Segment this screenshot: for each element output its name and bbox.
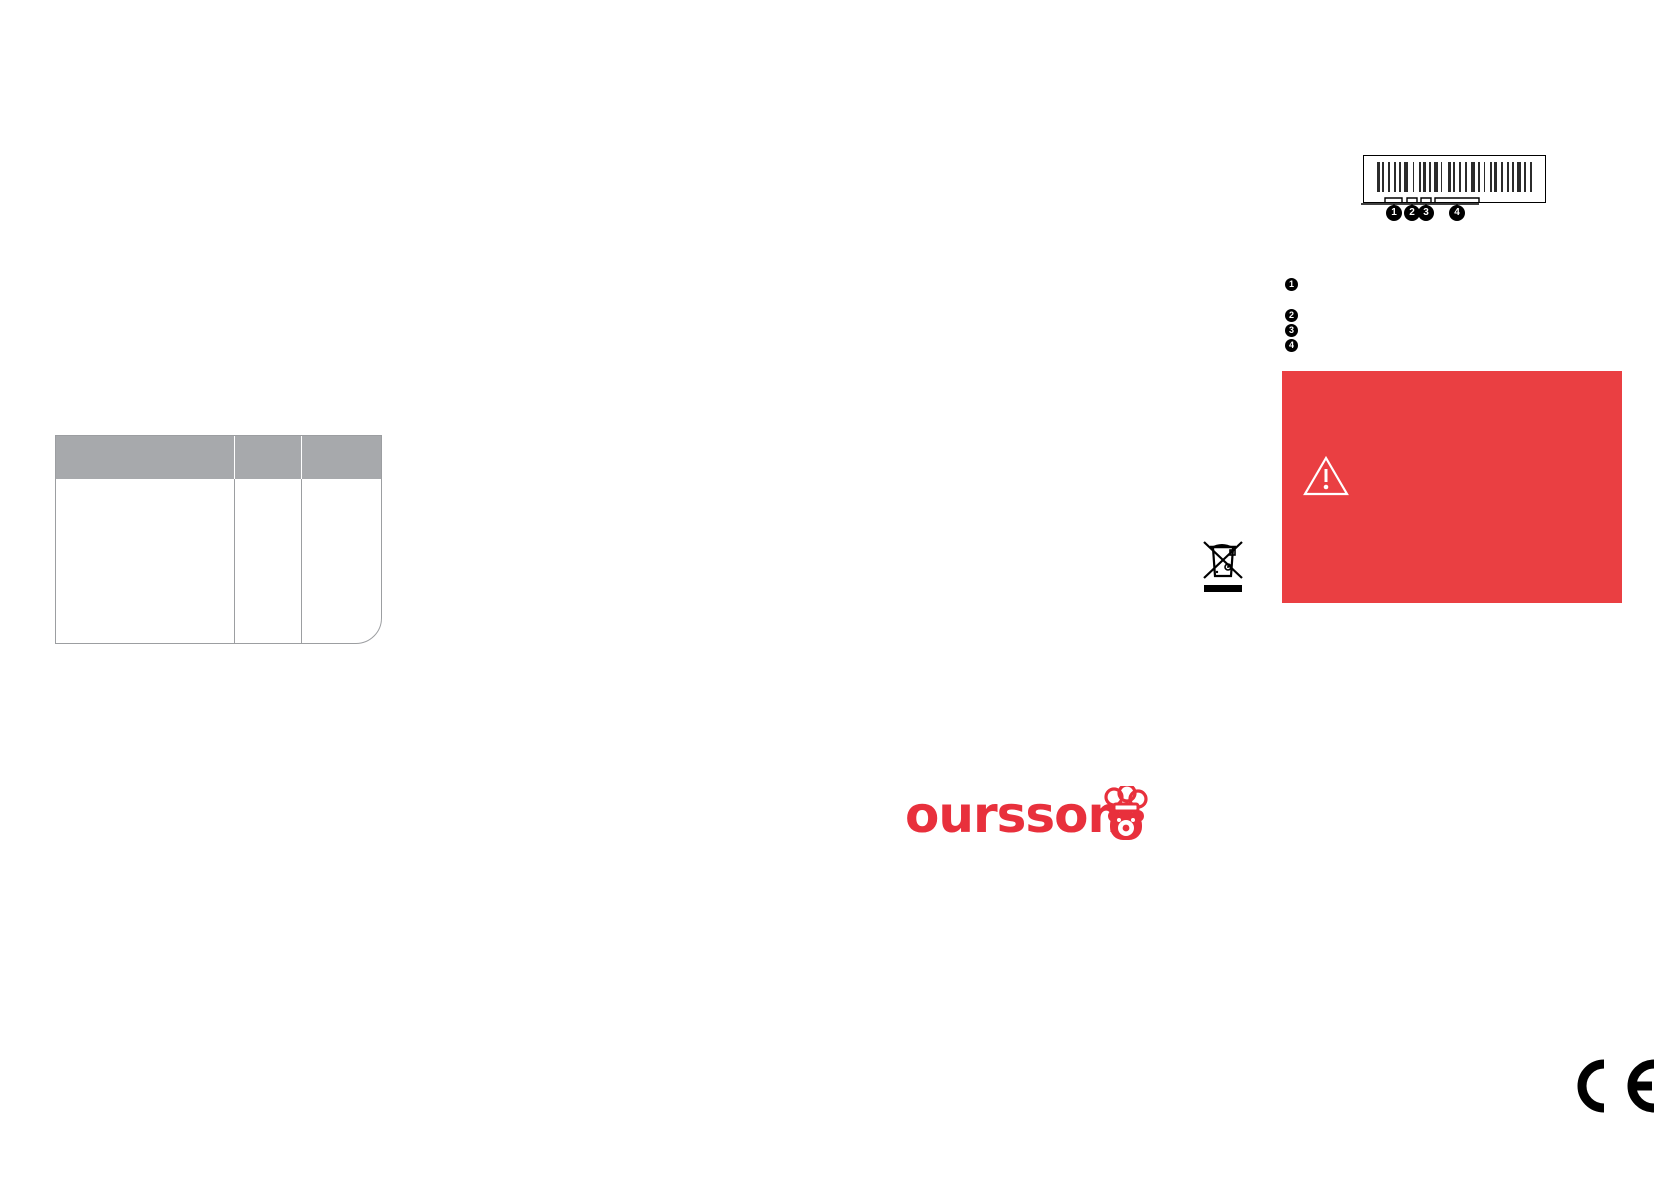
safety-warning-panel [1282, 371, 1622, 603]
barcode-bar [1530, 162, 1532, 192]
barcode-bar [1388, 162, 1390, 192]
barcode-bars [1377, 162, 1532, 192]
table-cell-value-2 [235, 479, 301, 485]
barcode-bar [1490, 162, 1492, 192]
barcode-callout-dot-3: 3 [1418, 205, 1434, 221]
barcode-bar [1501, 162, 1503, 192]
barcode-bar [1404, 162, 1408, 192]
barcode-bar [1524, 162, 1526, 192]
table-header-cell-2 [235, 436, 302, 479]
legend-number-3: 3 [1285, 324, 1298, 337]
barcode-bar [1423, 162, 1426, 192]
table-header-cell-1 [56, 436, 235, 479]
barcode-bar [1512, 162, 1515, 192]
ce-conformity-mark [1570, 1058, 1660, 1114]
barcode-bar [1507, 162, 1509, 192]
list-item: 2 [1285, 309, 1635, 322]
manual-back-page: 1 2 3 4 1 2 3 4 [0, 0, 1678, 1191]
barcode-bar [1471, 162, 1475, 192]
barcode-bar [1434, 162, 1438, 192]
table-cell-2 [235, 479, 302, 643]
table-header-label-3 [302, 436, 382, 442]
barcode-callout-dot-4: 4 [1449, 205, 1465, 221]
bear-chef-hat-icon [1101, 786, 1149, 844]
oursson-wordmark: oursson [905, 790, 1122, 840]
barcode-bar [1382, 162, 1384, 192]
barcode-bar [1517, 162, 1521, 192]
table-header-label-2 [235, 436, 301, 442]
barcode-bar [1478, 162, 1480, 192]
table-cell-3 [302, 479, 382, 643]
barcode-bar [1484, 162, 1486, 192]
barcode-bar [1399, 162, 1402, 192]
barcode-bar [1377, 162, 1380, 192]
table-cell-1 [56, 479, 235, 643]
list-item: 4 [1285, 339, 1635, 352]
barcode-legend: 1 2 3 4 [1285, 278, 1635, 354]
specifications-table [55, 435, 382, 644]
table-row [56, 479, 381, 643]
barcode-bar [1453, 162, 1455, 192]
barcode-bar [1413, 162, 1415, 192]
oursson-logo: oursson [905, 786, 1150, 844]
legend-number-1: 1 [1285, 278, 1298, 291]
legend-number-4: 4 [1285, 339, 1298, 352]
table-cell-value-3 [302, 479, 382, 485]
barcode-callout-dot-1: 1 [1386, 205, 1402, 221]
barcode-bar [1441, 162, 1443, 192]
barcode-bar [1459, 162, 1461, 192]
legend-number-2: 2 [1285, 309, 1298, 322]
list-item: 3 [1285, 324, 1635, 337]
table-cell-value-1 [56, 479, 234, 485]
barcode-bar [1419, 162, 1421, 192]
weee-crossed-out-bin-icon [1200, 538, 1246, 600]
list-item: 1 [1285, 278, 1635, 291]
table-header-label-1 [56, 436, 234, 442]
barcode-bar [1448, 162, 1451, 192]
barcode-bar [1394, 162, 1396, 192]
barcode-bar [1465, 162, 1467, 192]
warning-triangle-icon [1302, 455, 1350, 497]
barcode-bar [1429, 162, 1432, 192]
barcode-bar [1494, 162, 1497, 192]
table-header-cell-3 [302, 436, 382, 479]
table-header-row [56, 436, 381, 479]
